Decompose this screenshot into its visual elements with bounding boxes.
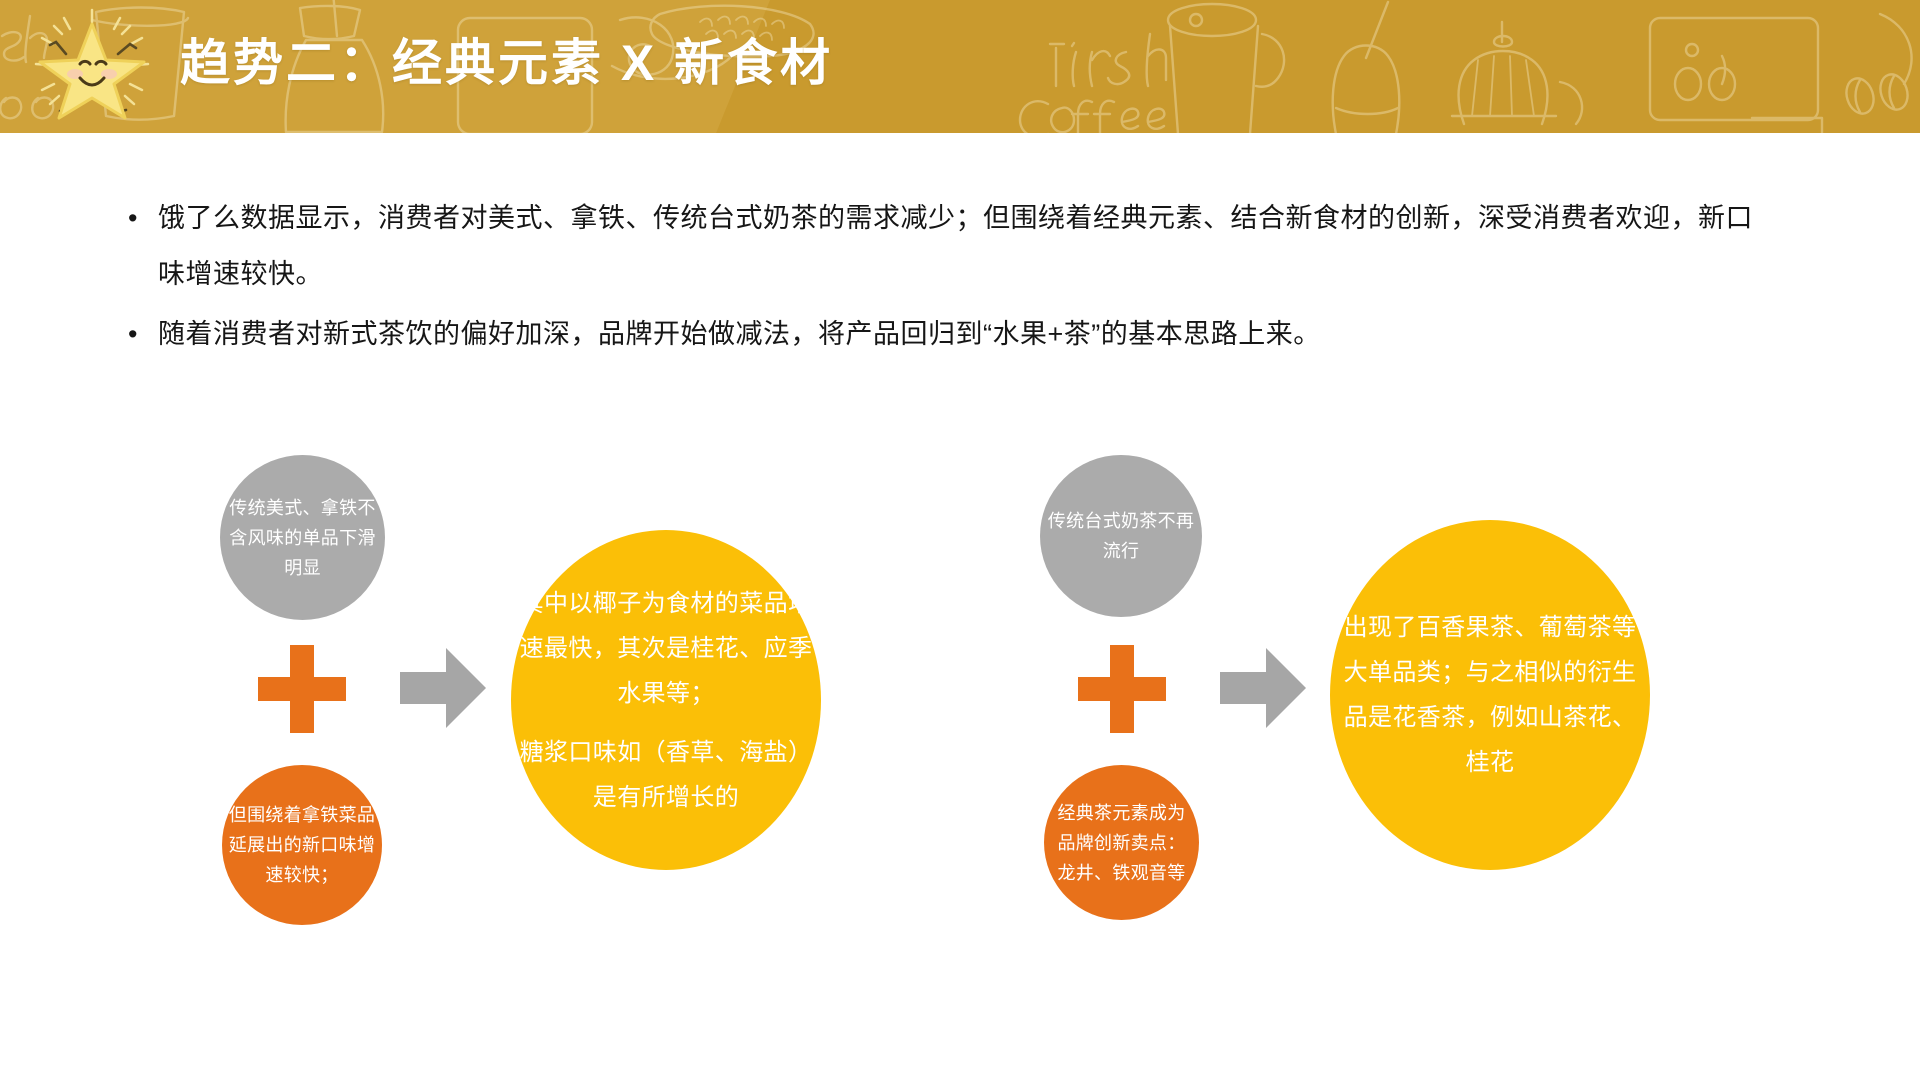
yellow-circle-milk-tea-body: 出现了百香果茶、葡萄茶等大单品类；与之相似的衍生品是花香茶，例如山茶花、桂花 (1330, 605, 1650, 785)
gray-circle-coffee: 传统美式、拿铁不含风味的单品下滑明显 (220, 455, 385, 620)
yellow-circle-coffee-para-1: 其中以椰子为食材的菜品增速最快，其次是桂花、应季水果等； (517, 581, 815, 716)
diagram-group-milk-tea: 传统台式奶茶不再流行 经典茶元素成为品牌创新卖点：龙井、铁观音等 出现了百香果茶… (830, 0, 1590, 1080)
orange-circle-milk-tea-text: 经典茶元素成为品牌创新卖点：龙井、铁观音等 (1044, 798, 1199, 888)
yellow-circle-coffee: 其中以椰子为食材的菜品增速最快，其次是桂花、应季水果等； 糖浆口味如（香草、海盐… (511, 530, 821, 870)
gray-circle-milk-tea-text: 传统台式奶茶不再流行 (1040, 506, 1202, 566)
orange-circle-coffee: 但围绕着拿铁菜品延展出的新口味增速较快； (222, 765, 382, 925)
gray-circle-milk-tea: 传统台式奶茶不再流行 (1040, 455, 1202, 617)
diagram-group-coffee: 传统美式、拿铁不含风味的单品下滑明显 但围绕着拿铁菜品延展出的新口味增速较快； … (0, 0, 760, 1080)
slide-root: 趋势二：经典元素 X 新食材 • 饿了么数据显示，消费者对美式、拿铁、传统台式奶… (0, 0, 1920, 1080)
yellow-circle-coffee-para-2: 糖浆口味如（香草、海盐）是有所增长的 (517, 730, 815, 820)
orange-circle-coffee-text: 但围绕着拿铁菜品延展出的新口味增速较快； (222, 800, 382, 890)
diagram: 传统美式、拿铁不含风味的单品下滑明显 但围绕着拿铁菜品延展出的新口味增速较快； … (0, 0, 1920, 1080)
orange-circle-milk-tea: 经典茶元素成为品牌创新卖点：龙井、铁观音等 (1044, 765, 1199, 920)
arrow-right-icon (400, 648, 486, 728)
plus-icon (258, 645, 346, 733)
plus-icon (1078, 645, 1166, 733)
yellow-circle-milk-tea-para-1: 出现了百香果茶、葡萄茶等大单品类；与之相似的衍生品是花香茶，例如山茶花、桂花 (1336, 605, 1644, 785)
yellow-circle-coffee-body: 其中以椰子为食材的菜品增速最快，其次是桂花、应季水果等； 糖浆口味如（香草、海盐… (511, 581, 821, 820)
arrow-right-icon (1220, 648, 1306, 728)
yellow-circle-milk-tea: 出现了百香果茶、葡萄茶等大单品类；与之相似的衍生品是花香茶，例如山茶花、桂花 (1330, 520, 1650, 870)
gray-circle-coffee-text: 传统美式、拿铁不含风味的单品下滑明显 (220, 493, 385, 583)
